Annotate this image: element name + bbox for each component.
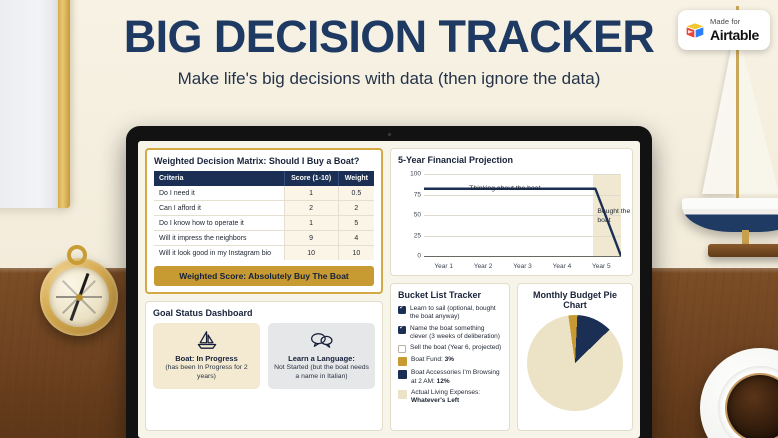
- legend-text: Actual Living Expenses:: [411, 389, 480, 396]
- compass-face: [49, 267, 109, 327]
- compass-hub: [76, 294, 83, 301]
- y-tick-label: 0: [417, 253, 421, 260]
- goal-subtext: (has been In Progress for 2 years): [157, 364, 256, 382]
- cell-score: 10: [284, 246, 338, 261]
- cell-weight: 10: [338, 246, 374, 261]
- legend-value: 12%: [437, 378, 450, 385]
- coffee-cup: [718, 366, 778, 438]
- column-header-score: Score (1-10): [284, 171, 338, 186]
- bucket-item-label: Sell the boat (Year 6, projected): [410, 344, 501, 353]
- legend-label-boat-fund: Boat Fund: 3%: [411, 356, 454, 366]
- table-row[interactable]: Do I need it 1 0.5: [154, 186, 374, 201]
- table-row[interactable]: Will it look good in my Instagram bio 10…: [154, 246, 374, 261]
- pie-chart-title: Monthly Budget Pie Chart: [525, 290, 625, 310]
- cell-weight: 0.5: [338, 186, 374, 201]
- x-tick-label: Year 5: [582, 263, 621, 270]
- chart-annotation-thinking: Thinking about the boat: [469, 185, 540, 193]
- bucket-item-label: Name the boat something clever (3 weeks …: [410, 325, 502, 342]
- legend-value: Whatever's Left: [411, 397, 459, 404]
- badge-text-group: Made for Airtable: [710, 18, 759, 42]
- table-header-row: Criteria Score (1-10) Weight: [154, 171, 374, 186]
- sailboat-stand: [708, 244, 778, 257]
- legend-swatch-boat-fund: [398, 357, 407, 366]
- goal-status-dashboard-card: Goal Status Dashboard Boat: In Progress …: [145, 301, 383, 431]
- lower-panels: Bucket List Tracker Learn to sail (optio…: [390, 283, 633, 431]
- cell-weight: 4: [338, 231, 374, 246]
- weighted-score-banner: Weighted Score: Absolutely Buy The Boat: [154, 266, 374, 286]
- goal-dashboard-title: Goal Status Dashboard: [153, 308, 375, 318]
- legend-swatch-accessories: [398, 370, 407, 379]
- pie-legend-item: Boat Fund: 3%: [398, 356, 502, 366]
- x-tick-label: Year 2: [463, 263, 502, 270]
- y-tick-label: 25: [414, 232, 421, 239]
- bucket-list-tracker-card: Bucket List Tracker Learn to sail (optio…: [390, 283, 510, 431]
- checkbox-checked-icon[interactable]: [398, 306, 406, 314]
- cell-criteria: Will it look good in my Instagram bio: [154, 246, 284, 261]
- financial-projection-card: 5-Year Financial Projection 100 75 50 25: [390, 148, 633, 276]
- page-subtitle: Make life's big decisions with data (the…: [0, 69, 778, 89]
- chart-annotation-bought: Bought the boat: [597, 208, 631, 225]
- bucket-list-title: Bucket List Tracker: [398, 290, 502, 300]
- table-row[interactable]: Can I afford it 2 2: [154, 201, 374, 216]
- weighted-decision-matrix-card: Weighted Decision Matrix: Should I Buy a…: [145, 148, 383, 294]
- x-tick-label: Year 4: [542, 263, 581, 270]
- made-for-airtable-badge[interactable]: Made for Airtable: [678, 10, 770, 50]
- cell-weight: 5: [338, 216, 374, 231]
- cell-score: 2: [284, 201, 338, 216]
- speech-bubbles-icon: [272, 329, 371, 351]
- goal-card-group: Boat: In Progress (has been In Progress …: [153, 323, 375, 389]
- goal-heading: Boat: In Progress: [157, 354, 256, 363]
- legend-label-living-expenses: Actual Living Expenses: Whatever's Left: [411, 389, 502, 406]
- goal-card-language[interactable]: Learn a Language: Not Started (but the b…: [268, 323, 375, 389]
- chart-title: 5-Year Financial Projection: [398, 155, 625, 165]
- sailboat-hull: [682, 198, 778, 232]
- y-tick-label: 100: [410, 171, 421, 178]
- legend-swatch-living-expenses: [398, 390, 407, 399]
- cell-weight: 2: [338, 201, 374, 216]
- page-title: BIG DECISION TRACKER: [0, 14, 778, 60]
- compass-prop: [40, 258, 118, 336]
- airtable-cube-icon: [685, 22, 705, 39]
- line-chart-plot: 100 75 50 25 0 Thinking about the boat B…: [398, 170, 625, 270]
- cell-criteria: Will it impress the neighbors: [154, 231, 284, 246]
- table-row[interactable]: Will it impress the neighbors 9 4: [154, 231, 374, 246]
- pie-legend-item: Boat Accessories I'm Browsing at 2 AM: 1…: [398, 369, 502, 386]
- legend-text: Boat Fund:: [411, 356, 445, 363]
- y-tick-label: 75: [414, 191, 421, 198]
- cell-score: 1: [284, 186, 338, 201]
- compass-ring: [67, 245, 87, 265]
- x-tick-label: Year 1: [424, 263, 463, 270]
- decision-matrix-table: Criteria Score (1-10) Weight Do I need i…: [154, 171, 374, 260]
- cell-criteria: Do I need it: [154, 186, 284, 201]
- badge-brand-label: Airtable: [710, 28, 759, 42]
- right-column: 5-Year Financial Projection 100 75 50 25: [390, 148, 633, 431]
- monthly-budget-pie-card: Monthly Budget Pie Chart: [517, 283, 633, 431]
- column-header-weight: Weight: [338, 171, 374, 186]
- goal-heading: Learn a Language:: [272, 354, 371, 363]
- legend-text: Boat Accessories I'm Browsing at 2 AM:: [411, 369, 500, 384]
- checkbox-unchecked-icon[interactable]: [398, 345, 406, 353]
- tablet-device: Weighted Decision Matrix: Should I Buy a…: [126, 126, 652, 438]
- y-tick-label: 50: [414, 212, 421, 219]
- bucket-item-label: Learn to sail (optional, bought the boat…: [410, 305, 502, 322]
- coffee-liquid: [727, 375, 778, 438]
- chart-axis-area: 100 75 50 25 0 Thinking about the boat B…: [424, 174, 621, 256]
- goal-subtext: Not Started (but the boat needs a name i…: [272, 364, 371, 382]
- checkbox-checked-icon[interactable]: [398, 326, 406, 334]
- matrix-title: Weighted Decision Matrix: Should I Buy a…: [154, 156, 374, 166]
- cell-score: 9: [284, 231, 338, 246]
- x-axis-labels: Year 1 Year 2 Year 3 Year 4 Year 5: [424, 263, 621, 270]
- column-header-criteria: Criteria: [154, 171, 284, 186]
- tablet-screen: Weighted Decision Matrix: Should I Buy a…: [138, 141, 640, 438]
- bucket-list-item[interactable]: Name the boat something clever (3 weeks …: [398, 325, 502, 342]
- table-row[interactable]: Do I know how to operate it 1 5: [154, 216, 374, 231]
- left-column: Weighted Decision Matrix: Should I Buy a…: [145, 148, 383, 431]
- page-header: BIG DECISION TRACKER Make life's big dec…: [0, 14, 778, 89]
- axis-baseline: [424, 256, 621, 257]
- cell-criteria: Can I afford it: [154, 201, 284, 216]
- legend-label-accessories: Boat Accessories I'm Browsing at 2 AM: 1…: [411, 369, 502, 386]
- badge-made-for-label: Made for: [710, 18, 759, 26]
- pie-chart: [527, 315, 623, 411]
- cell-score: 1: [284, 216, 338, 231]
- pie-legend-item: Actual Living Expenses: Whatever's Left: [398, 389, 502, 406]
- sailboat-icon: [157, 329, 256, 351]
- x-tick-label: Year 3: [503, 263, 542, 270]
- cell-criteria: Do I know how to operate it: [154, 216, 284, 231]
- tablet-camera-dot: [388, 133, 391, 136]
- goal-card-boat[interactable]: Boat: In Progress (has been In Progress …: [153, 323, 260, 389]
- legend-value: 3%: [445, 356, 454, 363]
- bucket-list-item[interactable]: Learn to sail (optional, bought the boat…: [398, 305, 502, 322]
- bucket-list-item[interactable]: Sell the boat (Year 6, projected): [398, 344, 502, 353]
